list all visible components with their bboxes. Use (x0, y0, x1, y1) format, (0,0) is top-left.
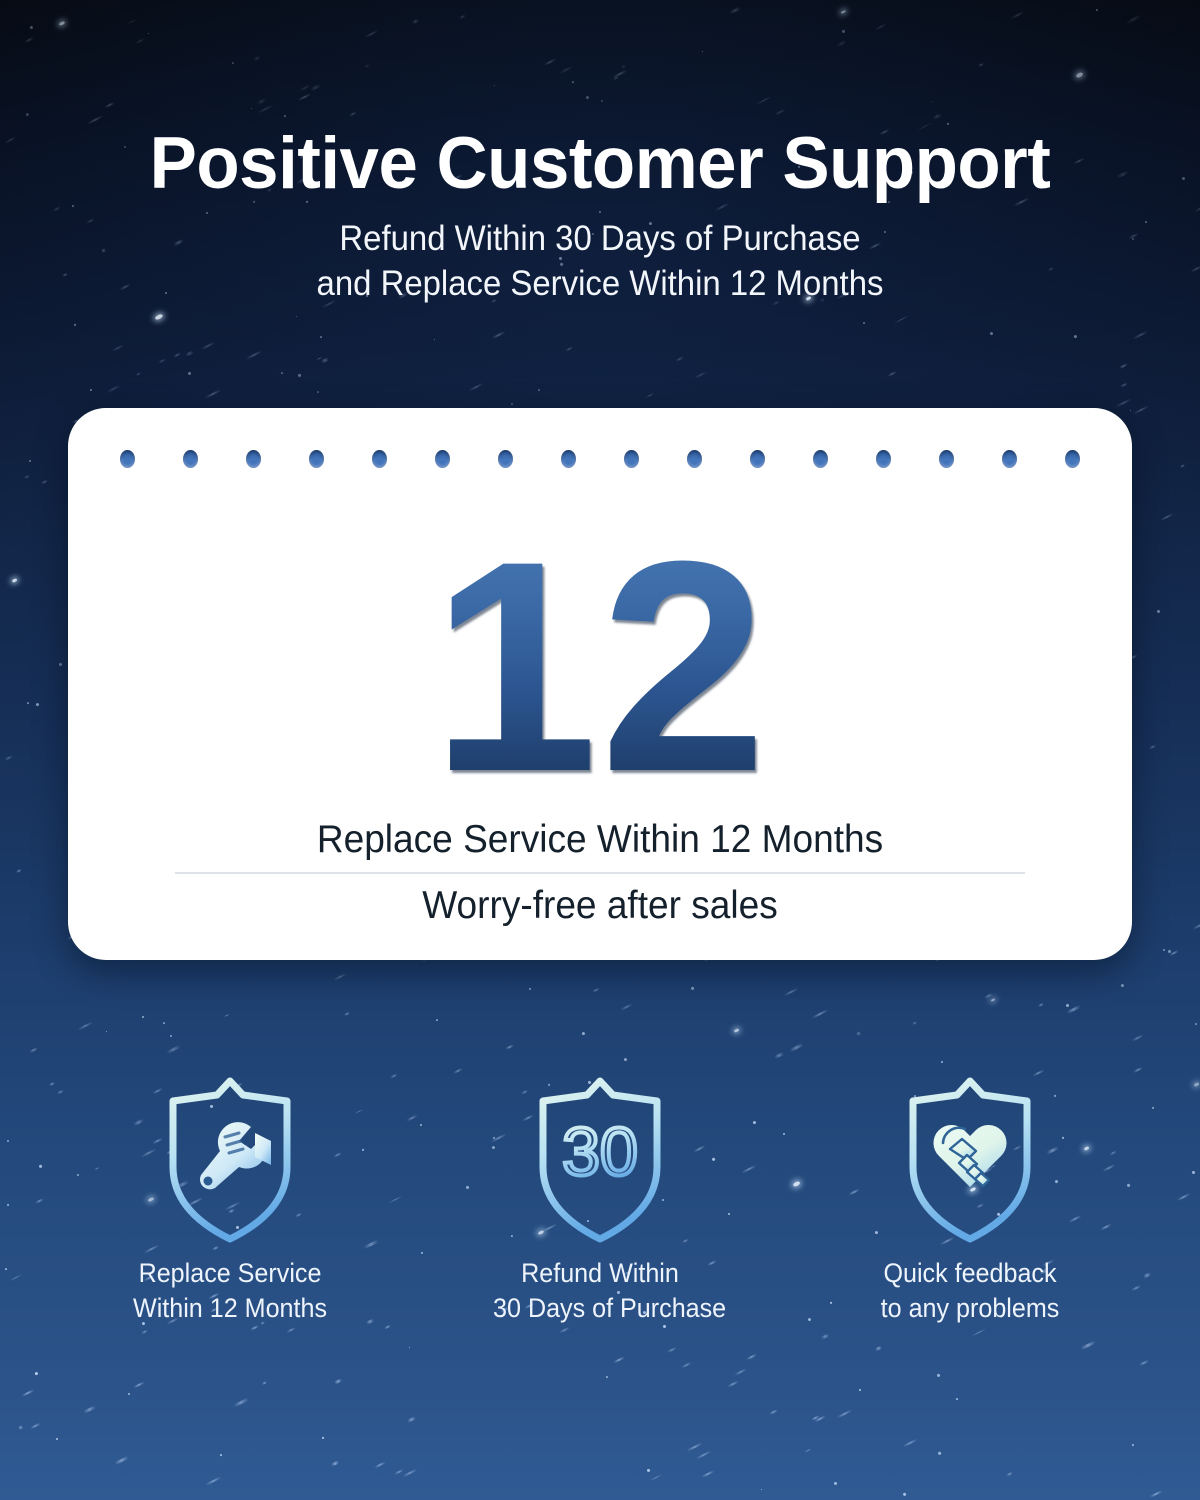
feature-caption: Refund Within 30 Days of Purchase (493, 1256, 707, 1326)
punch-hole (876, 450, 891, 468)
page-subtitle: Refund Within 30 Days of Purchase and Re… (36, 217, 1164, 307)
punch-hole (561, 450, 576, 468)
feature-caption-line-2: Within 12 Months (123, 1291, 337, 1326)
punch-hole (120, 450, 135, 468)
punch-hole (750, 450, 765, 468)
card-divider (175, 872, 1025, 874)
punch-hole (309, 450, 324, 468)
punch-hole (246, 450, 261, 468)
warranty-months-number: 12 (68, 516, 1132, 816)
feature-caption-line-1: Refund Within (493, 1256, 707, 1291)
punch-hole (183, 450, 198, 468)
card-subline: Worry-free after sales (95, 884, 1106, 928)
page-title: Positive Customer Support (18, 127, 1182, 201)
warranty-card: 12 Replace Service Within 12 Months Worr… (68, 408, 1132, 960)
punch-hole (1002, 450, 1017, 468)
punch-hole (435, 450, 450, 468)
shield-wrench-icon (115, 1070, 345, 1250)
feature-caption-line-2: 30 Days of Purchase (493, 1291, 707, 1326)
feature-caption-line-2: to any problems (863, 1291, 1077, 1326)
punch-hole (624, 450, 639, 468)
feature-replace-service: Replace Service Within 12 Months (115, 1070, 345, 1326)
subtitle-line-2: and Replace Service Within 12 Months (36, 262, 1164, 307)
shield-30-days-icon: 30 (485, 1070, 715, 1250)
feature-caption-line-1: Quick feedback (863, 1256, 1077, 1291)
shield-handshake-heart-icon (855, 1070, 1085, 1250)
feature-quick-feedback: Quick feedback to any problems (855, 1070, 1085, 1326)
punch-hole (498, 450, 513, 468)
feature-caption-line-1: Replace Service (123, 1256, 337, 1291)
card-headline: Replace Service Within 12 Months (95, 818, 1106, 862)
punch-hole (1065, 450, 1080, 468)
header: Positive Customer Support Refund Within … (0, 0, 1200, 307)
feature-caption: Quick feedback to any problems (863, 1256, 1077, 1326)
punch-hole (813, 450, 828, 468)
feature-refund-window: 30 Refund Within 30 Days of Purchase (485, 1070, 715, 1326)
feature-caption: Replace Service Within 12 Months (123, 1256, 337, 1326)
punch-hole (687, 450, 702, 468)
punch-hole-row (68, 450, 1132, 468)
shield-badge-number: 30 (562, 1114, 638, 1190)
feature-list: Replace Service Within 12 Months 30 Refu… (0, 1070, 1200, 1326)
punch-hole (372, 450, 387, 468)
punch-hole (939, 450, 954, 468)
subtitle-line-1: Refund Within 30 Days of Purchase (36, 217, 1164, 262)
